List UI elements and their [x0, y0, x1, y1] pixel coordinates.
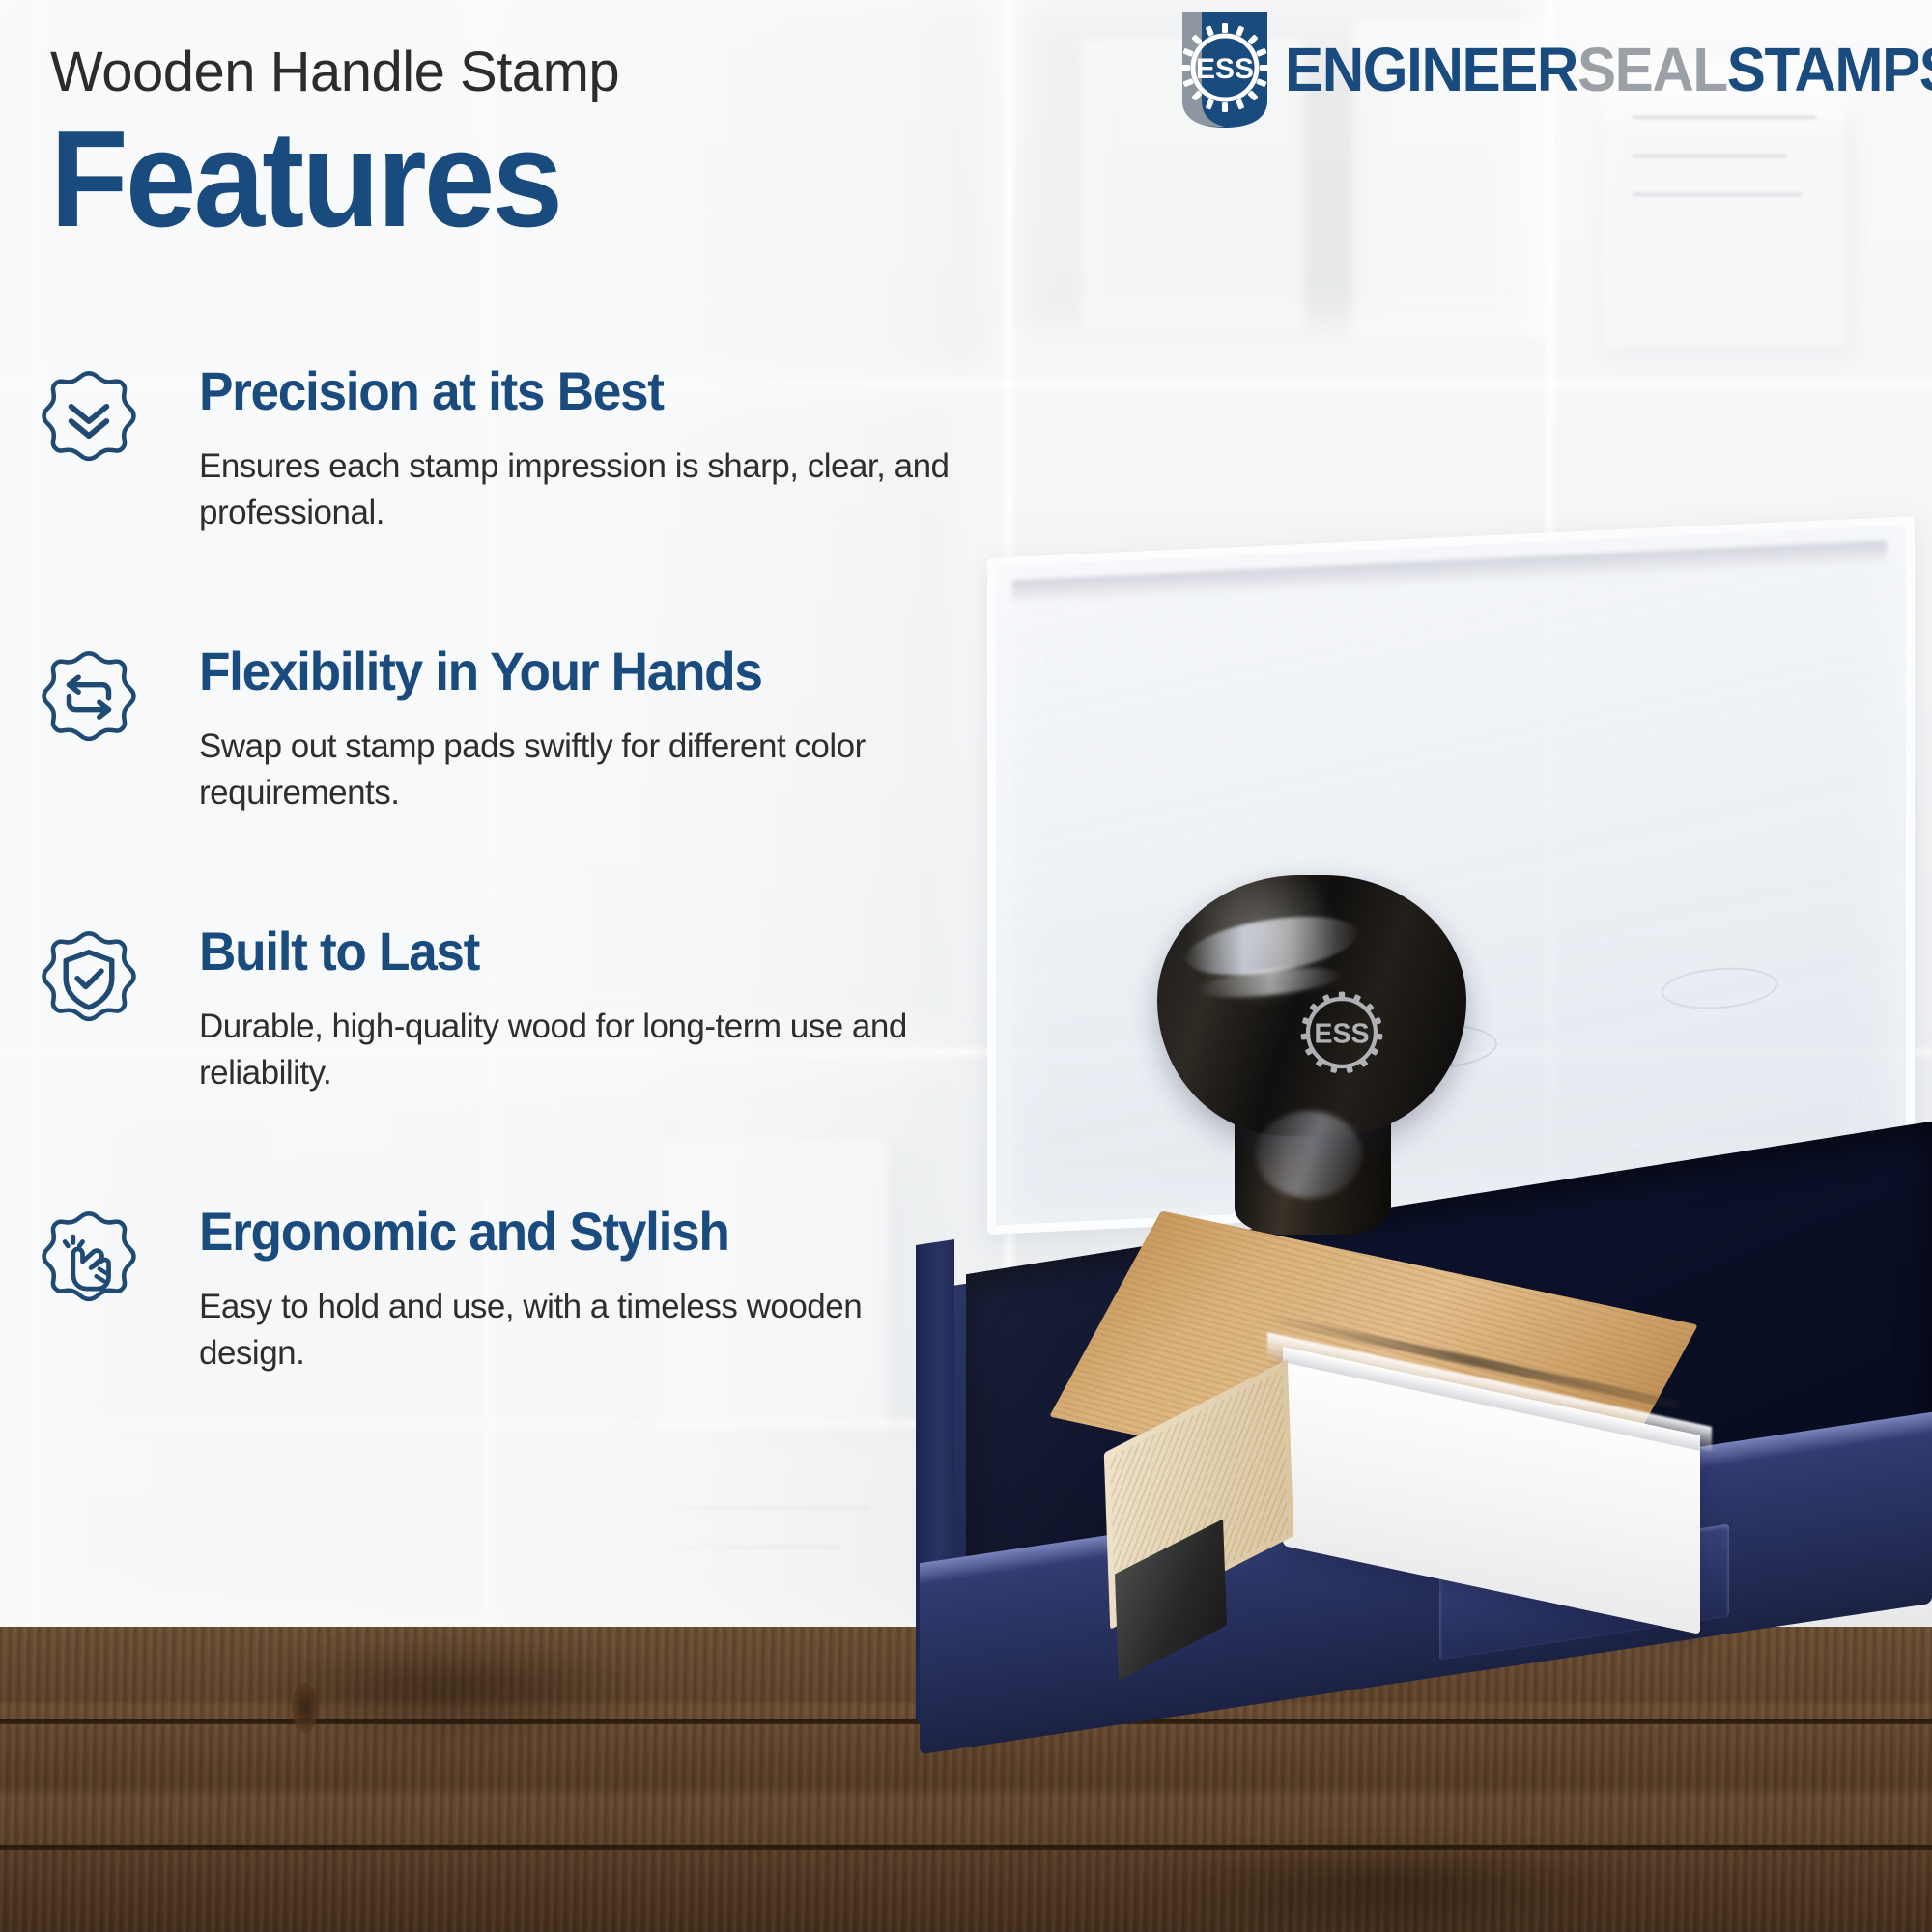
clear-box-lid: [987, 516, 1915, 1235]
feature-title: Built to Last: [199, 923, 933, 979]
feature-title: Ergonomic and Stylish: [199, 1204, 933, 1259]
feature-description: Swap out stamp pads swiftly for differen…: [199, 724, 962, 816]
brand-word-seal: SEAL: [1577, 39, 1727, 100]
page-kicker: Wooden Handle Stamp: [50, 44, 1016, 100]
shield-check-badge-icon: [37, 929, 141, 1034]
wooden-stamp-block: [1024, 1256, 1758, 1662]
brand-word-engineer: ENGINEER: [1285, 39, 1577, 100]
ess-mark-text: ESS: [1196, 53, 1254, 85]
handle-highlight: [1256, 1111, 1362, 1198]
feature-item: Flexibility in Your Hands Swap out stamp…: [37, 643, 1012, 923]
feature-text: Flexibility in Your Hands Swap out stamp…: [199, 643, 972, 816]
brand-wordmark: ENGINEERSEALSTAMPS: [1285, 39, 1932, 100]
feature-item: Precision at its Best Ensures each stamp…: [37, 363, 1012, 643]
page-title: Features: [50, 114, 949, 245]
feature-description: Easy to hold and use, with a timeless wo…: [199, 1284, 962, 1377]
feature-item: Built to Last Durable, high-quality wood…: [37, 923, 1012, 1204]
hand-tap-badge-icon: [37, 1209, 141, 1314]
feature-text: Precision at its Best Ensures each stamp…: [199, 363, 972, 536]
page-header: Wooden Handle Stamp Features: [50, 44, 1016, 245]
feature-title: Precision at its Best: [199, 363, 933, 418]
features-list: Precision at its Best Ensures each stamp…: [37, 363, 1012, 1484]
brand-logo[interactable]: ESS ENGINEERSEALSTAMPS .COM: [1163, 8, 1932, 131]
feature-text: Ergonomic and Stylish Easy to hold and u…: [199, 1204, 972, 1377]
feature-text: Built to Last Durable, high-quality wood…: [199, 923, 972, 1096]
feature-title: Flexibility in Your Hands: [199, 643, 933, 698]
double-chevron-down-badge-icon: [37, 369, 141, 473]
handle-ess-gear-logo-icon: ESS: [1291, 981, 1393, 1084]
feature-item: Ergonomic and Stylish Easy to hold and u…: [37, 1204, 1012, 1484]
ess-shield-icon: ESS: [1163, 8, 1287, 131]
handle-ess-text: ESS: [1314, 1019, 1369, 1050]
brand-word-stamps: STAMPS: [1727, 39, 1932, 100]
feature-description: Durable, high-quality wood for long-term…: [199, 1004, 962, 1096]
infographic-canvas: ESS Wooden Handle Stamp Features: [0, 0, 1932, 1932]
swap-arrows-badge-icon: [37, 649, 141, 753]
feature-description: Ensures each stamp impression is sharp, …: [199, 443, 962, 536]
